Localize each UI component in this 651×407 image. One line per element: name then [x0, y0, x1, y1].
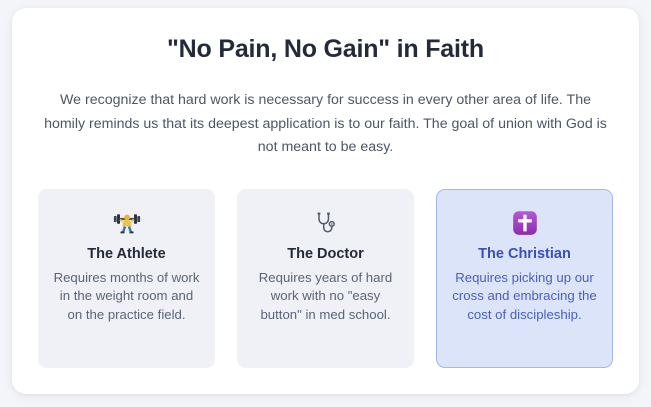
- page-title: "No Pain, No Gain" in Faith: [167, 34, 484, 64]
- card-the-christian[interactable]: The Christian Requires picking up our cr…: [436, 189, 613, 368]
- stethoscope-icon: [312, 207, 340, 239]
- card-title: The Christian: [478, 245, 571, 264]
- latin-cross-icon: [511, 207, 539, 239]
- card-description: Requires months of work in the weight ro…: [51, 269, 202, 325]
- intro-paragraph: We recognize that hard work is necessary…: [39, 89, 613, 160]
- slide-root: "No Pain, No Gain" in Faith We recognize…: [0, 0, 651, 407]
- card-title: The Athlete: [87, 245, 165, 264]
- card-the-doctor[interactable]: The Doctor Requires years of hard work w…: [237, 189, 414, 368]
- card-description: Requires years of hard work with no "eas…: [250, 269, 401, 325]
- comparison-card-group: The Athlete Requires months of work in t…: [36, 189, 615, 368]
- weightlifter-icon: [113, 207, 141, 239]
- card-title: The Doctor: [287, 245, 364, 264]
- card-the-athlete[interactable]: The Athlete Requires months of work in t…: [38, 189, 215, 368]
- content-panel: "No Pain, No Gain" in Faith We recognize…: [12, 8, 639, 394]
- card-description: Requires picking up our cross and embrac…: [449, 269, 600, 325]
